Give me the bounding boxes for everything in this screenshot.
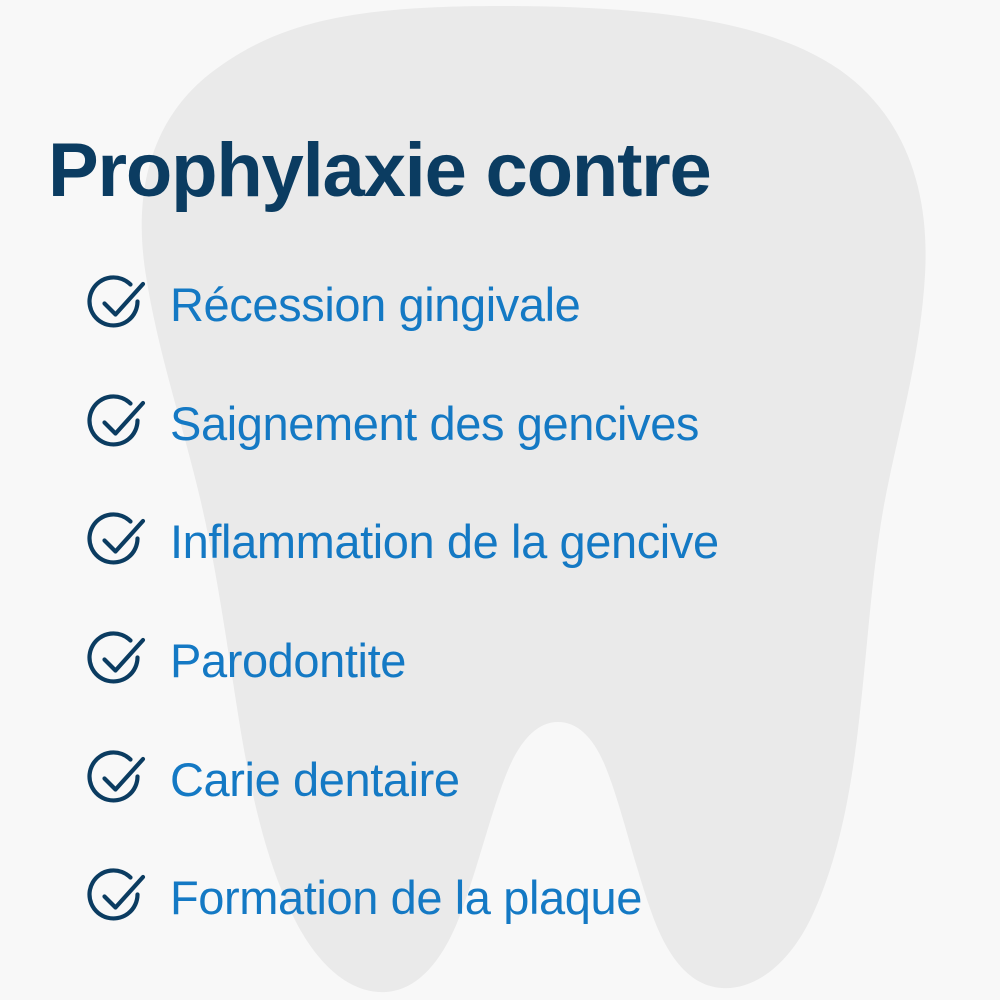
prophylaxis-infographic: Prophylaxie contre Récession gingivale S…: [0, 0, 1000, 1000]
list-item: Récession gingivale: [0, 246, 1000, 365]
list-item-label: Inflammation de la gencive: [170, 514, 719, 570]
list-item: Inflammation de la gencive: [0, 483, 1000, 602]
list-item-label: Saignement des gencives: [170, 396, 699, 452]
check-circle-icon: [86, 750, 152, 810]
list-item-label: Récession gingivale: [170, 277, 580, 333]
list-item: Formation de la plaque: [0, 839, 1000, 958]
list-item-label: Carie dentaire: [170, 752, 460, 808]
list-item: Carie dentaire: [0, 720, 1000, 839]
list-item-label: Formation de la plaque: [170, 870, 642, 926]
check-circle-icon: [86, 275, 152, 335]
page-title: Prophylaxie contre: [48, 123, 958, 219]
check-circle-icon: [86, 868, 152, 928]
check-circle-icon: [86, 512, 152, 572]
list-item: Saignement des gencives: [0, 365, 1000, 484]
list-item: Parodontite: [0, 602, 1000, 721]
check-circle-icon: [86, 631, 152, 691]
list-item-label: Parodontite: [170, 633, 406, 689]
check-circle-icon: [86, 394, 152, 454]
benefits-checklist: Récession gingivale Saignement des genci…: [0, 246, 1000, 958]
